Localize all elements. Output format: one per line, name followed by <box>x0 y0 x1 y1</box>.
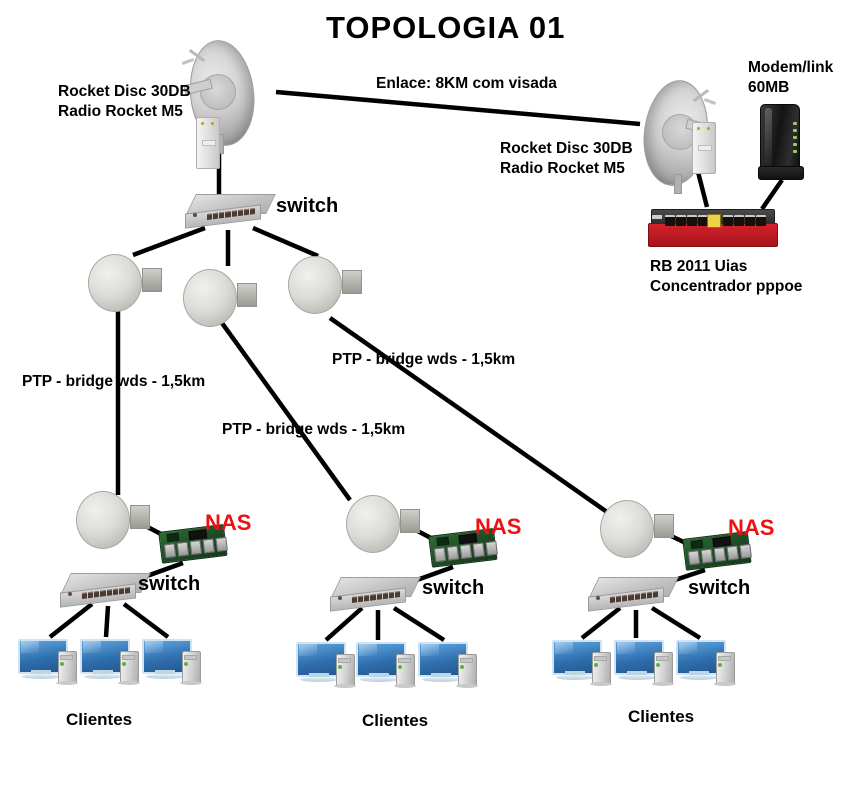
switch-icon <box>185 194 271 228</box>
wire-site-left-switch-to-pc2 <box>106 606 108 637</box>
sector-antenna-center[interactable] <box>183 265 257 329</box>
wire-site-center-switch-to-pc1 <box>326 608 362 640</box>
site-center-nas-label: NAS <box>475 513 521 541</box>
mikrotik-rb2011-router[interactable] <box>648 209 776 251</box>
modem-label: Modem/link 60MB <box>748 58 833 98</box>
desktop-computer-icon <box>614 638 678 690</box>
desktop-computer-icon <box>80 637 144 689</box>
site-left-client-1[interactable] <box>18 637 82 689</box>
site-left-client-2[interactable] <box>80 637 144 689</box>
ptp-label-center: PTP - bridge wds - 1,5km <box>222 420 405 440</box>
wire-site-center-switch-to-pc3 <box>394 608 444 640</box>
rocket-disc-icon <box>76 487 150 551</box>
wire-ptp-center <box>214 312 350 500</box>
wire-site-right-switch-to-pc3 <box>652 608 700 638</box>
cable-modem[interactable] <box>758 104 804 180</box>
site-right-clients-label: Clientes <box>628 706 694 728</box>
rocket-disc-icon <box>600 496 674 560</box>
ptp-label-right: PTP - bridge wds - 1,5km <box>332 350 515 370</box>
desktop-computer-icon <box>676 638 740 690</box>
tower-antenna-label: Rocket Disc 30DB Radio Rocket M5 <box>58 82 191 122</box>
wire-modem-to-router <box>762 180 782 209</box>
ptp-label-left: PTP - bridge wds - 1,5km <box>22 372 205 392</box>
router-icon <box>648 209 776 251</box>
router-label: RB 2011 Uias Concentrador pppoe <box>650 257 802 297</box>
wire-site-left-switch-to-pc1 <box>50 604 92 637</box>
switch-icon <box>588 577 674 611</box>
site-center-antenna[interactable] <box>346 491 420 555</box>
site-center-switch[interactable] <box>330 577 416 611</box>
desktop-computer-icon <box>18 637 82 689</box>
site-right-switch-label: switch <box>688 576 750 602</box>
switch-icon <box>60 573 146 607</box>
site-left-client-3[interactable] <box>142 637 206 689</box>
site-right-client-1[interactable] <box>552 638 616 690</box>
rocket-disc-icon <box>346 491 420 555</box>
site-right-antenna[interactable] <box>600 496 674 560</box>
wire-ptp-right <box>330 318 607 512</box>
rocket-disc-icon <box>183 265 257 329</box>
rocket-disc-icon <box>88 250 162 314</box>
desktop-computer-icon <box>356 640 420 692</box>
page-title: TOPOLOGIA 01 <box>326 8 565 48</box>
site-center-client-2[interactable] <box>356 640 420 692</box>
desktop-computer-icon <box>296 640 360 692</box>
sector-antenna-right[interactable] <box>288 252 362 316</box>
site-left-switch[interactable] <box>60 573 146 607</box>
wire-backhaul-link <box>276 92 640 124</box>
desktop-computer-icon <box>552 638 616 690</box>
distribution-switch[interactable] <box>185 194 271 228</box>
sector-antenna-left[interactable] <box>88 250 162 314</box>
cable-modem-icon <box>758 104 804 180</box>
site-left-nas-label: NAS <box>205 509 251 537</box>
site-center-clients-label: Clientes <box>362 710 428 732</box>
site-center-client-3[interactable] <box>418 640 482 692</box>
site-right-switch[interactable] <box>588 577 674 611</box>
site-center-client-1[interactable] <box>296 640 360 692</box>
site-left-clients-label: Clientes <box>66 709 132 731</box>
wire-site-left-switch-to-pc3 <box>124 604 168 637</box>
backhaul-link-label: Enlace: 8KM com visada <box>376 74 557 94</box>
distribution-switch-label: switch <box>276 194 338 220</box>
tower-rocket-radio[interactable] <box>196 117 220 169</box>
topology-diagram-canvas: TOPOLOGIA 01 Rocket Disc 30DB Radio Rock… <box>0 0 862 800</box>
site-right-nas-label: NAS <box>728 514 774 542</box>
site-left-antenna[interactable] <box>76 487 150 551</box>
desktop-computer-icon <box>142 637 206 689</box>
pop-antenna-label: Rocket Disc 30DB Radio Rocket M5 <box>500 139 633 179</box>
rocket-disc-icon <box>288 252 362 316</box>
switch-icon <box>330 577 416 611</box>
desktop-computer-icon <box>418 640 482 692</box>
wire-site-right-switch-to-pc1 <box>582 608 620 638</box>
pop-rocket-radio[interactable] <box>692 122 716 174</box>
site-right-client-3[interactable] <box>676 638 740 690</box>
site-left-switch-label: switch <box>138 572 200 598</box>
site-center-switch-label: switch <box>422 576 484 602</box>
site-right-client-2[interactable] <box>614 638 678 690</box>
